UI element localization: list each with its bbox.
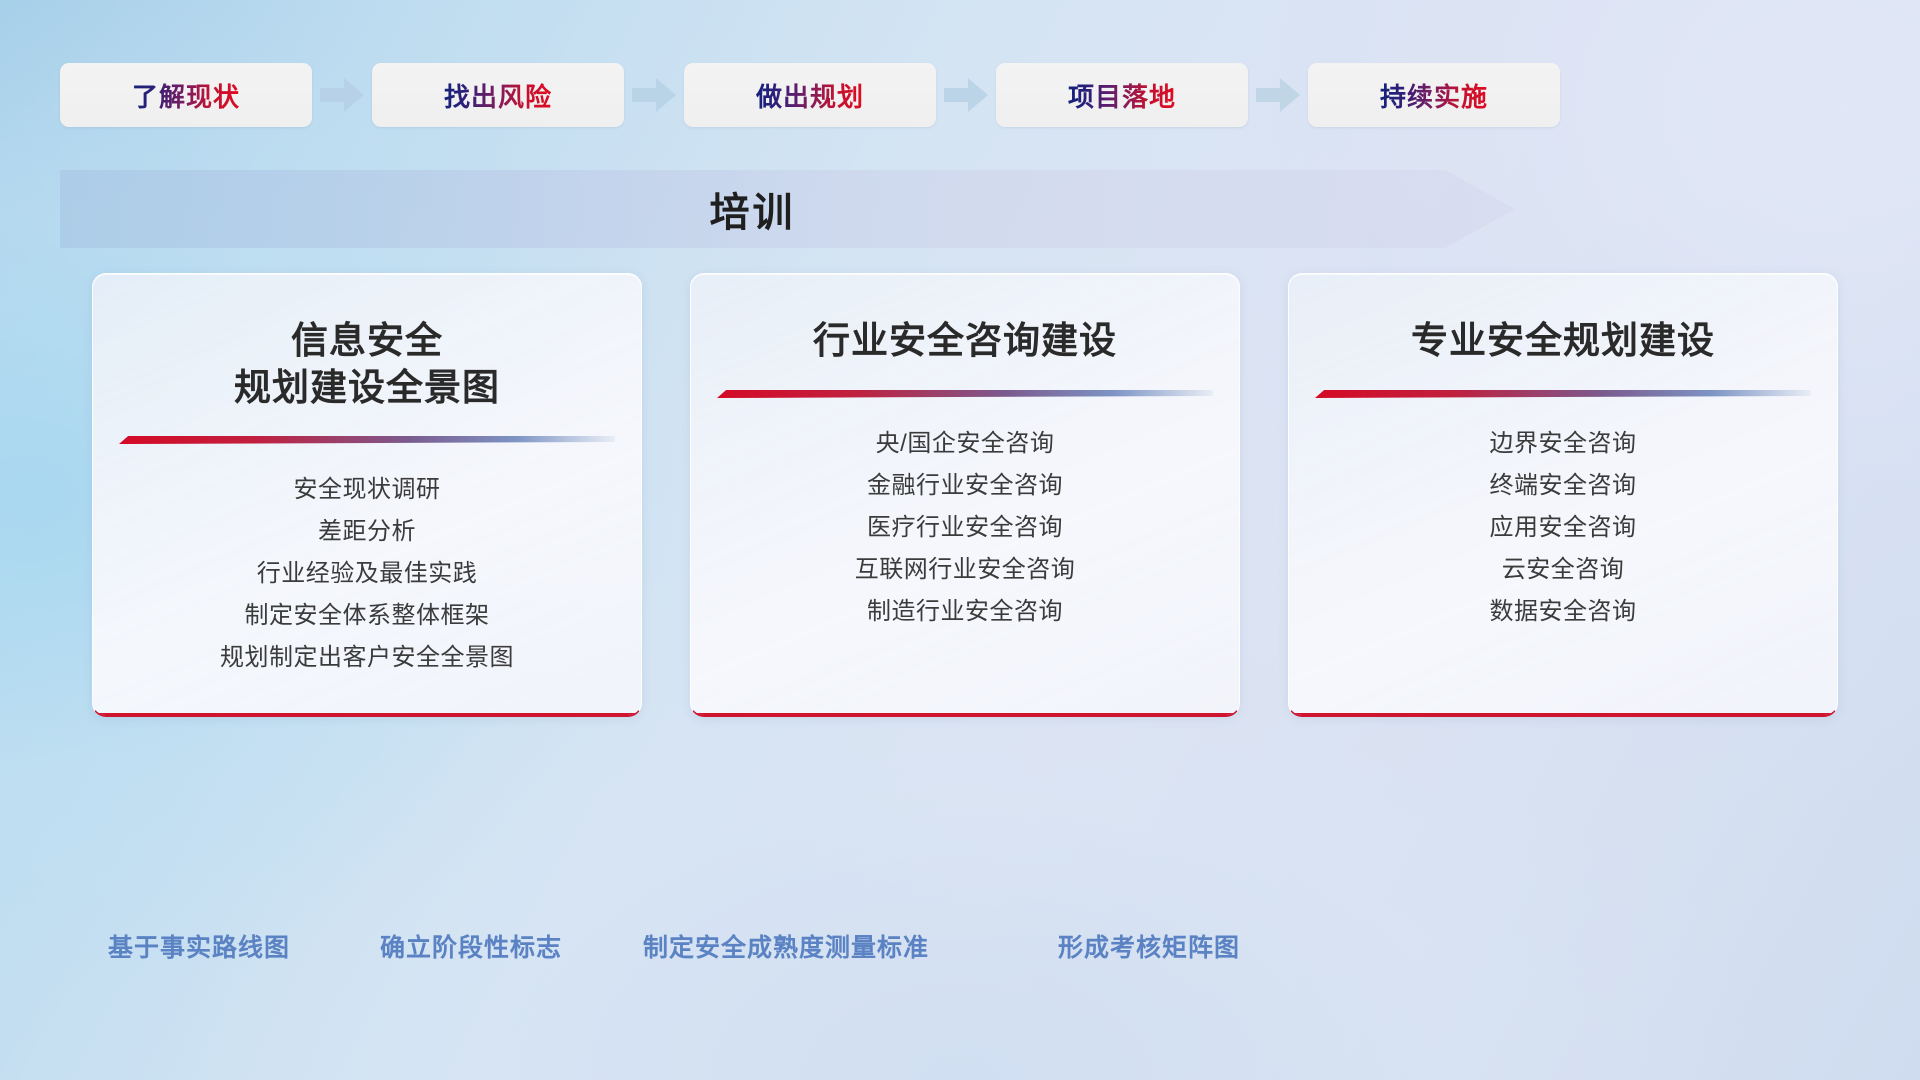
list-item: 安全现状调研 xyxy=(119,469,615,511)
list-item: 央/国企安全咨询 xyxy=(717,423,1213,465)
list-item: 应用安全咨询 xyxy=(1315,507,1811,549)
list-item: 互联网行业安全咨询 xyxy=(717,549,1213,591)
card-3[interactable]: 专业安全规划建设 边界安全咨询 xyxy=(1288,273,1838,717)
list-item: 数据安全咨询 xyxy=(1315,591,1811,633)
list-item: 行业经验及最佳实践 xyxy=(119,553,615,595)
card-divider-icon xyxy=(119,433,615,445)
footer-label-4: 形成考核矩阵图 xyxy=(1058,928,1240,964)
step-label-4: 项目落地 xyxy=(1068,77,1176,114)
card-item-list: 央/国企安全咨询 金融行业安全咨询 医疗行业安全咨询 互联网行业安全咨询 制造行… xyxy=(717,423,1213,633)
list-item: 制造行业安全咨询 xyxy=(717,591,1213,633)
step-label-2: 找出风险 xyxy=(444,77,552,114)
card-2[interactable]: 行业安全咨询建设 央/国企安全咨询 xyxy=(690,273,1240,717)
footer-label-row: 基于事实路线图 确立阶段性标志 制定安全成熟度测量标准 形成考核矩阵图 xyxy=(0,928,1920,972)
card-item-list: 安全现状调研 差距分析 行业经验及最佳实践 制定安全体系整体框架 规划制定出客户… xyxy=(119,469,615,679)
step-box-2[interactable]: 找出风险 xyxy=(372,63,624,127)
banner-title: 培训 xyxy=(60,170,1515,248)
card-row: 信息安全 规划建设全景图 安全现状调研 xyxy=(92,273,1838,717)
training-banner: 培训 xyxy=(60,170,1515,248)
card-divider-icon xyxy=(1315,387,1811,399)
card-divider-icon xyxy=(717,387,1213,399)
arrow-right-icon xyxy=(1248,75,1308,115)
list-item: 医疗行业安全咨询 xyxy=(717,507,1213,549)
footer-label-1: 基于事实路线图 xyxy=(108,928,290,964)
step-label-3: 做出规划 xyxy=(756,77,864,114)
step-box-3[interactable]: 做出规划 xyxy=(684,63,936,127)
card-title: 行业安全咨询建设 xyxy=(813,318,1117,365)
card-item-list: 边界安全咨询 终端安全咨询 应用安全咨询 云安全咨询 数据安全咨询 xyxy=(1315,423,1811,633)
card-title: 信息安全 规划建设全景图 xyxy=(234,318,500,411)
list-item: 云安全咨询 xyxy=(1315,549,1811,591)
list-item: 制定安全体系整体框架 xyxy=(119,595,615,637)
list-item: 金融行业安全咨询 xyxy=(717,465,1213,507)
card-1[interactable]: 信息安全 规划建设全景图 安全现状调研 xyxy=(92,273,642,717)
list-item: 规划制定出客户安全全景图 xyxy=(119,637,615,679)
step-box-5[interactable]: 持续实施 xyxy=(1308,63,1560,127)
footer-label-3: 制定安全成熟度测量标准 xyxy=(643,928,929,964)
footer-label-2: 确立阶段性标志 xyxy=(380,928,562,964)
step-box-1[interactable]: 了解现状 xyxy=(60,63,312,127)
list-item: 终端安全咨询 xyxy=(1315,465,1811,507)
list-item: 边界安全咨询 xyxy=(1315,423,1811,465)
step-label-5: 持续实施 xyxy=(1380,77,1488,114)
arrow-right-icon xyxy=(936,75,996,115)
step-box-4[interactable]: 项目落地 xyxy=(996,63,1248,127)
arrow-right-icon xyxy=(624,75,684,115)
card-title: 专业安全规划建设 xyxy=(1411,318,1715,365)
step-label-1: 了解现状 xyxy=(132,77,240,114)
list-item: 差距分析 xyxy=(119,511,615,553)
arrow-right-icon xyxy=(312,75,372,115)
slide-root: 了解现状 找出风险 做出规划 项目落地 xyxy=(0,0,1920,1080)
process-step-row: 了解现状 找出风险 做出规划 项目落地 xyxy=(60,62,1850,128)
